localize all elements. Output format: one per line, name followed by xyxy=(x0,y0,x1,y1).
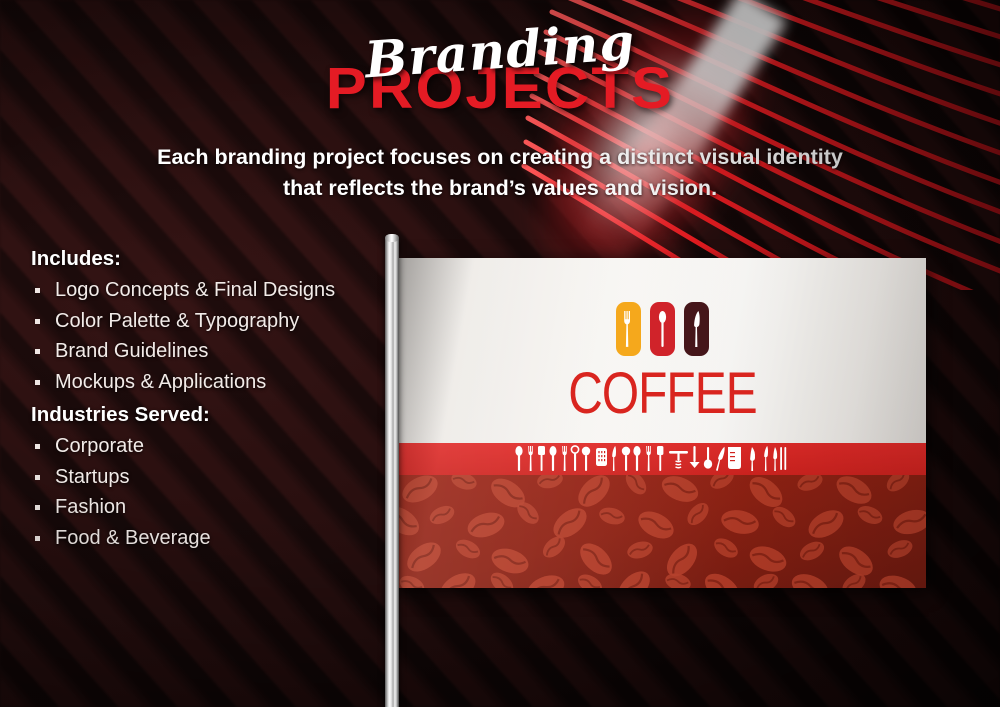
list-item-label: Color Palette & Typography xyxy=(55,310,299,332)
list-item: Brand Guidelines xyxy=(31,336,391,367)
flagpole xyxy=(385,238,399,707)
poster-subtitle: Each branding project focuses on creatin… xyxy=(140,142,860,204)
list-item: Food & Beverage xyxy=(31,523,391,554)
bullet-icon xyxy=(35,349,40,354)
knife-icon xyxy=(691,309,702,349)
bullet-icon xyxy=(35,444,40,449)
list-item: Mockups & Applications xyxy=(31,367,391,398)
list-item-label: Mockups & Applications xyxy=(55,371,266,393)
bullet-icon xyxy=(35,380,40,385)
poster-headline: Branding PROJECTS xyxy=(0,26,1000,118)
coffee-wordmark: COFFEE xyxy=(568,365,757,424)
industries-list: Corporate Startups Fashion Food & Bevera… xyxy=(31,431,391,553)
bullet-icon xyxy=(35,536,40,541)
list-item-label: Corporate xyxy=(55,435,144,457)
flag-red-band xyxy=(398,443,926,475)
list-item: Fashion xyxy=(31,492,391,523)
list-item: Logo Concepts & Final Designs xyxy=(31,275,391,306)
coffee-logo: COFFEE xyxy=(398,302,926,420)
bullet-icon xyxy=(35,319,40,324)
list-item: Corporate xyxy=(31,431,391,462)
fork-badge xyxy=(616,302,641,356)
list-item: Startups xyxy=(31,462,391,493)
bullet-icon xyxy=(35,288,40,293)
flagpole-cap xyxy=(385,234,399,242)
includes-list: Logo Concepts & Final Designs Color Pale… xyxy=(31,275,391,397)
spoon-icon xyxy=(657,309,668,349)
list-item: Color Palette & Typography xyxy=(31,306,391,337)
bullet-icon xyxy=(35,505,40,510)
branding-projects-poster: Branding PROJECTS Each branding project … xyxy=(0,0,1000,707)
list-item-label: Food & Beverage xyxy=(55,527,211,549)
coffee-brand-flag-mockup: COFFEE xyxy=(398,258,926,588)
list-item-label: Brand Guidelines xyxy=(55,340,208,362)
coffee-bean-pattern xyxy=(398,475,926,588)
bullet-icon xyxy=(35,475,40,480)
fork-icon xyxy=(623,309,634,349)
cutlery-badges xyxy=(616,302,709,356)
spoon-badge xyxy=(650,302,675,356)
list-item-label: Logo Concepts & Final Designs xyxy=(55,279,335,301)
includes-heading: Includes: xyxy=(31,247,391,271)
list-item-label: Fashion xyxy=(55,496,126,518)
industries-heading: Industries Served: xyxy=(31,403,391,427)
knife-badge xyxy=(684,302,709,356)
info-panel: Includes: Logo Concepts & Final Designs … xyxy=(31,247,391,553)
list-item-label: Startups xyxy=(55,466,129,488)
